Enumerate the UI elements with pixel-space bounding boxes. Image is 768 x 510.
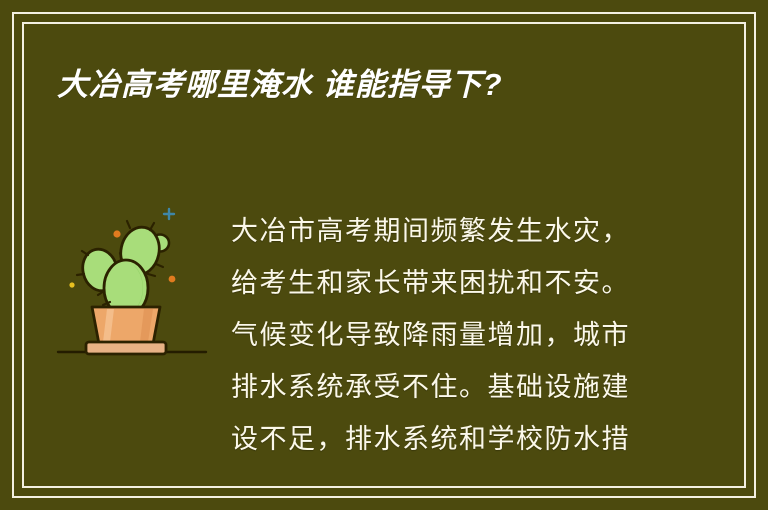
- body-line: 设不足，排水系统和学校防水措: [231, 413, 661, 465]
- cactus-plant: [77, 221, 169, 316]
- flower-pot: [86, 307, 166, 354]
- body-line: 排水系统承受不住。基础设施建: [231, 361, 661, 413]
- body-line: 大冶市高考期间频繁发生水灾，: [231, 205, 661, 257]
- article-body: 大冶市高考期间频繁发生水灾， 给考生和家长带来困扰和不安。 气候变化导致降雨量增…: [231, 205, 661, 470]
- poster-canvas: 大冶高考哪里淹水 谁能指导下?: [0, 0, 768, 510]
- potted-cactus-illustration: [52, 192, 212, 367]
- body-line: 给考生和家长带来困扰和不安。: [231, 257, 661, 309]
- page-title: 大冶高考哪里淹水 谁能指导下?: [57, 68, 717, 102]
- body-line: 气候变化导致降雨量增加，城市: [231, 309, 661, 361]
